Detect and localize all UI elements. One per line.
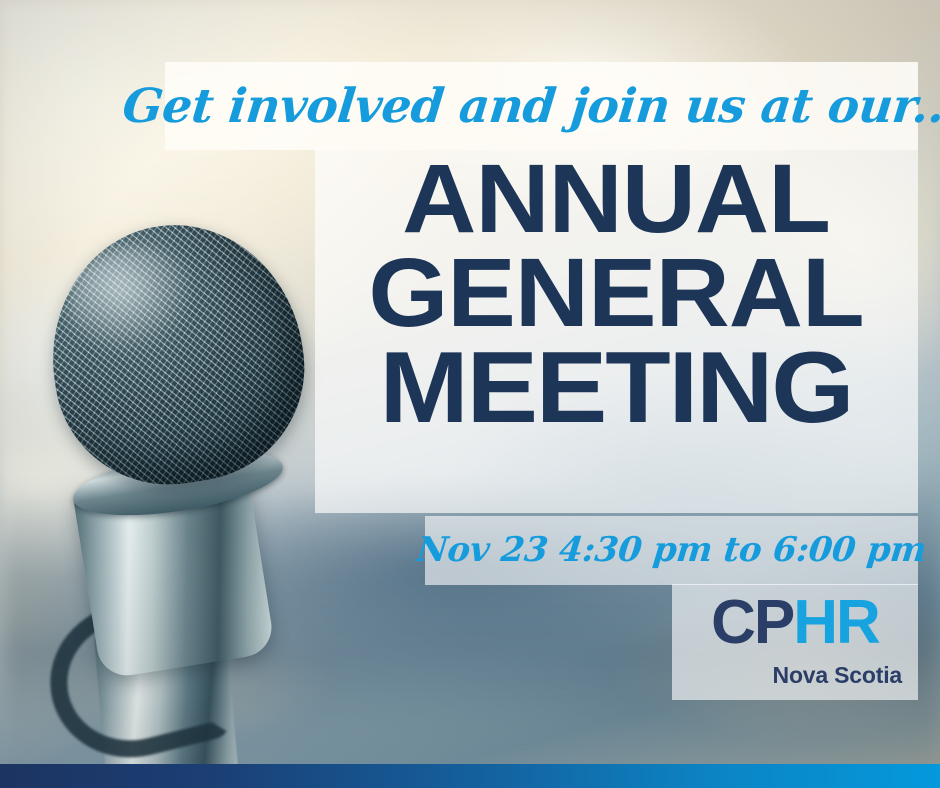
tagline-text: Get involved and join us at our... <box>160 60 923 152</box>
page-title: ANNUAL GENERAL MEETING <box>292 152 940 438</box>
logo-mark-hr: HR <box>793 588 879 657</box>
event-poster: Get involved and join us at our... ANNUA… <box>0 0 940 788</box>
title-line-1: ANNUAL <box>292 152 940 246</box>
cphr-logo: CPHR Nova Scotia <box>672 584 918 700</box>
title-line-2: GENERAL <box>292 246 940 340</box>
logo-wordmark: CPHR <box>672 590 918 655</box>
logo-mark-cp: CP <box>711 588 793 657</box>
title-line-3: MEETING <box>292 340 940 438</box>
footer-gradient-bar <box>0 764 940 788</box>
logo-subtitle: Nova Scotia <box>773 662 902 689</box>
event-datetime: Nov 23 4:30 pm to 6:00 pm <box>421 515 921 585</box>
